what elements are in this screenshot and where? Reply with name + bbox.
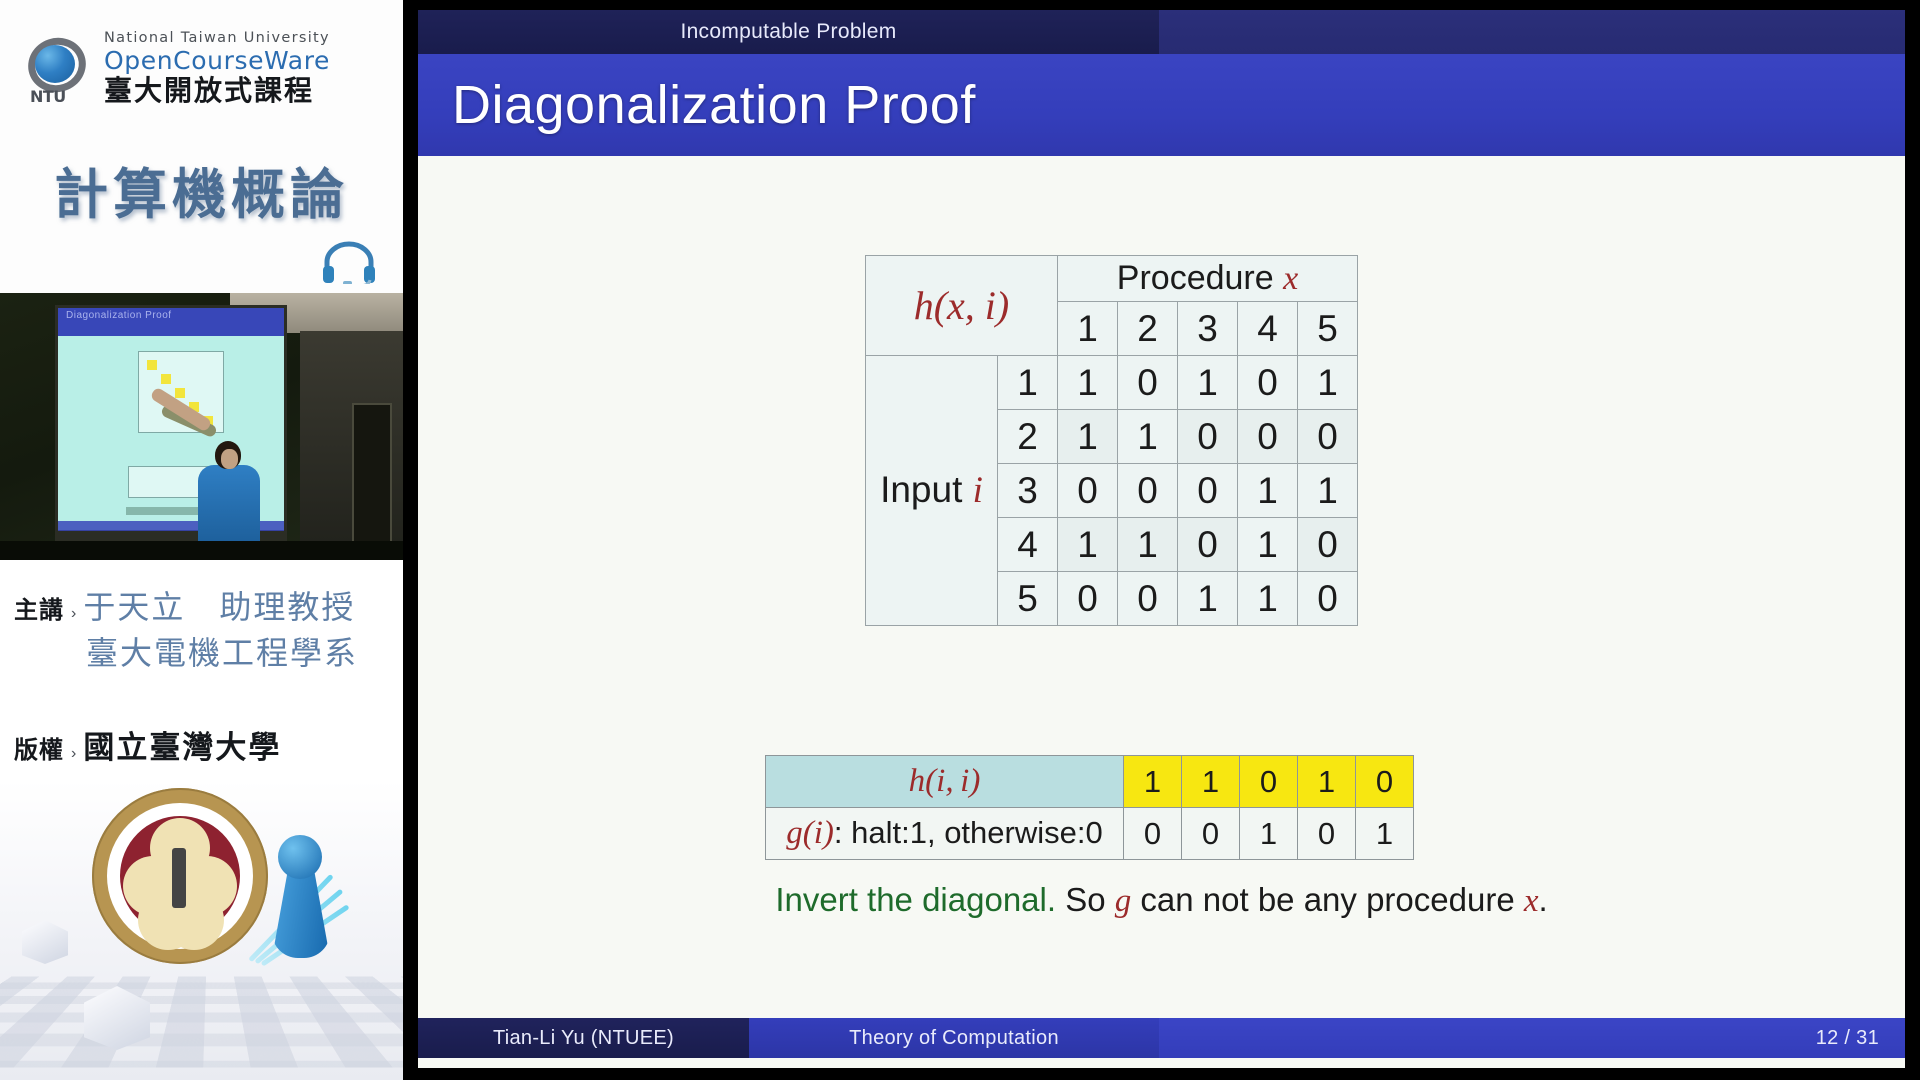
matrix-corner-label: h(x, i) xyxy=(866,256,1058,356)
slide-canvas: Incomputable Problem Diagonalization Pro… xyxy=(418,10,1905,1068)
h-matrix-table: h(x, i) Procedure x 1 2 3 4 5 xyxy=(865,255,1358,626)
matrix-row-header: 1 xyxy=(998,356,1058,410)
caption-text-1: So xyxy=(1056,881,1115,918)
ntu-emblem-panel xyxy=(0,780,403,1080)
matrix-cell: 1 xyxy=(1238,572,1298,626)
matrix-col-header: 2 xyxy=(1118,302,1178,356)
diagonal-table: h(i, i) 1 1 0 1 0 g(i): halt:1, otherwis… xyxy=(765,755,1414,860)
credits-panel: 主講 › 于天立 助理教授 臺大電機工程學系 版權 › 國立臺灣大學 xyxy=(0,560,403,800)
g-cell: 1 xyxy=(1240,808,1298,860)
decorative-cube xyxy=(22,920,68,964)
lecturer-caret-icon: › xyxy=(71,605,76,623)
course-title: 計算機概論 xyxy=(0,150,403,229)
lecturer-department: 臺大電機工程學系 xyxy=(86,628,358,674)
slide-title-bar: Diagonalization Proof xyxy=(418,54,1905,156)
matrix-column-group-label: Procedure x xyxy=(1058,256,1358,302)
ntu-globe-icon: NTU xyxy=(26,36,92,102)
copyright-caret-icon: › xyxy=(71,745,76,763)
ntu-seal-icon xyxy=(92,788,268,964)
slide-breadcrumb-bar: Incomputable Problem xyxy=(418,10,1905,54)
checkerboard-floor xyxy=(0,976,403,1067)
page-title: Diagonalization Proof xyxy=(452,74,976,136)
slide-content: h(x, i) Procedure x 1 2 3 4 5 xyxy=(418,156,1905,1018)
table-row: h(i, i) 1 1 0 1 0 xyxy=(766,756,1414,808)
matrix-cell: 0 xyxy=(1298,410,1358,464)
caption-period: . xyxy=(1539,881,1548,918)
table-row: g(i): halt:1, otherwise:0 0 0 1 0 1 xyxy=(766,808,1414,860)
matrix-cell: 1 xyxy=(1238,464,1298,518)
matrix-cell: 0 xyxy=(1118,464,1178,518)
matrix-cell: 0 xyxy=(1058,572,1118,626)
breadcrumb: Incomputable Problem xyxy=(418,10,1159,54)
copyright-row: 版權 › 國立臺灣大學 xyxy=(14,722,281,767)
g-row-label: g(i): halt:1, otherwise:0 xyxy=(766,808,1124,860)
matrix-cell: 1 xyxy=(1238,518,1298,572)
slide-caption: Invert the diagonal. So g can not be any… xyxy=(418,881,1905,920)
diagonal-cell: 0 xyxy=(1356,756,1414,808)
table-row: Input i 1 1 0 1 0 1 xyxy=(866,356,1358,410)
matrix-cell: 1 xyxy=(1298,464,1358,518)
screen-root: NTU National Taiwan University OpenCours… xyxy=(0,0,1920,1080)
matrix-row-header: 3 xyxy=(998,464,1058,518)
matrix-cell: 0 xyxy=(1178,410,1238,464)
g-cell: 0 xyxy=(1124,808,1182,860)
lecturer-figure xyxy=(198,465,260,545)
ocw-logo: NTU National Taiwan University OpenCours… xyxy=(26,30,330,107)
matrix-cell: 0 xyxy=(1238,410,1298,464)
lecturer-label: 主講 xyxy=(14,590,64,625)
matrix-col-header: 1 xyxy=(1058,302,1118,356)
copyright-label: 版權 xyxy=(14,730,64,765)
footer-page-number: 12 / 31 xyxy=(1159,1018,1905,1058)
table-row: h(x, i) Procedure x xyxy=(866,256,1358,302)
course-sidebar: NTU National Taiwan University OpenCours… xyxy=(0,0,403,1080)
diagonal-row-label: h(i, i) xyxy=(766,756,1124,808)
matrix-row-group-label: Input i xyxy=(866,356,998,626)
footer-course: Theory of Computation xyxy=(749,1018,1159,1058)
caption-math-g: g xyxy=(1115,883,1132,919)
matrix-cell: 0 xyxy=(1298,572,1358,626)
diagonal-cell: 1 xyxy=(1124,756,1182,808)
diagonal-cell: 1 xyxy=(1182,756,1240,808)
matrix-row-header: 4 xyxy=(998,518,1058,572)
ocw-branding-panel: NTU National Taiwan University OpenCours… xyxy=(0,0,403,293)
slide-footer: Tian-Li Yu (NTUEE) Theory of Computation… xyxy=(418,1018,1905,1058)
matrix-col-header: 5 xyxy=(1298,302,1358,356)
diagonal-cell: 1 xyxy=(1298,756,1356,808)
matrix-col-header: 4 xyxy=(1238,302,1298,356)
matrix-cell: 1 xyxy=(1118,410,1178,464)
matrix-cell: 1 xyxy=(1178,356,1238,410)
matrix-cell: 1 xyxy=(1058,356,1118,410)
footer-author: Tian-Li Yu (NTUEE) xyxy=(418,1018,749,1058)
lecturer-name: 于天立 助理教授 xyxy=(83,582,355,628)
matrix-corner-label-text: h(x, i) xyxy=(914,283,1010,328)
g-cell: 0 xyxy=(1182,808,1240,860)
ocw-brand-name-cn: 臺大開放式課程 xyxy=(104,75,330,107)
ocw-brand-name: OpenCourseWare xyxy=(104,47,330,75)
ntu-logo-mark: NTU xyxy=(30,87,66,106)
lecture-video-thumbnail[interactable]: Diagonalization Proof xyxy=(0,293,403,560)
matrix-cell: 1 xyxy=(1298,356,1358,410)
matrix-cell: 0 xyxy=(1118,356,1178,410)
caption-emphasis: Invert the diagonal. xyxy=(775,881,1056,918)
matrix-cell: 1 xyxy=(1178,572,1238,626)
matrix-cell: 0 xyxy=(1178,518,1238,572)
caption-math-x: x xyxy=(1524,883,1539,919)
diagonal-cell: 0 xyxy=(1240,756,1298,808)
matrix-col-header: 3 xyxy=(1178,302,1238,356)
matrix-cell: 1 xyxy=(1058,410,1118,464)
projected-slide-title: Diagonalization Proof xyxy=(66,310,172,321)
matrix-cell: 1 xyxy=(1118,518,1178,572)
lecturer-row: 主講 › 于天立 助理教授 xyxy=(14,582,355,628)
matrix-cell: 1 xyxy=(1058,518,1118,572)
g-cell: 1 xyxy=(1356,808,1414,860)
g-row-label-text: : halt:1, otherwise:0 xyxy=(834,815,1103,850)
matrix-cell: 0 xyxy=(1118,572,1178,626)
g-cell: 0 xyxy=(1298,808,1356,860)
matrix-cell: 0 xyxy=(1178,464,1238,518)
matrix-cell: 0 xyxy=(1298,518,1358,572)
caption-text-2: can not be any procedure xyxy=(1131,881,1524,918)
matrix-row-header: 5 xyxy=(998,572,1058,626)
matrix-row-header: 2 xyxy=(998,410,1058,464)
breadcrumb-label: Incomputable Problem xyxy=(680,20,896,44)
ocw-university-name: National Taiwan University xyxy=(104,30,330,47)
matrix-cell: 0 xyxy=(1238,356,1298,410)
matrix-cell: 0 xyxy=(1058,464,1118,518)
pawn-head-icon xyxy=(278,835,322,879)
headset-icon xyxy=(321,240,377,284)
copyright-holder: 國立臺灣大學 xyxy=(83,722,281,767)
